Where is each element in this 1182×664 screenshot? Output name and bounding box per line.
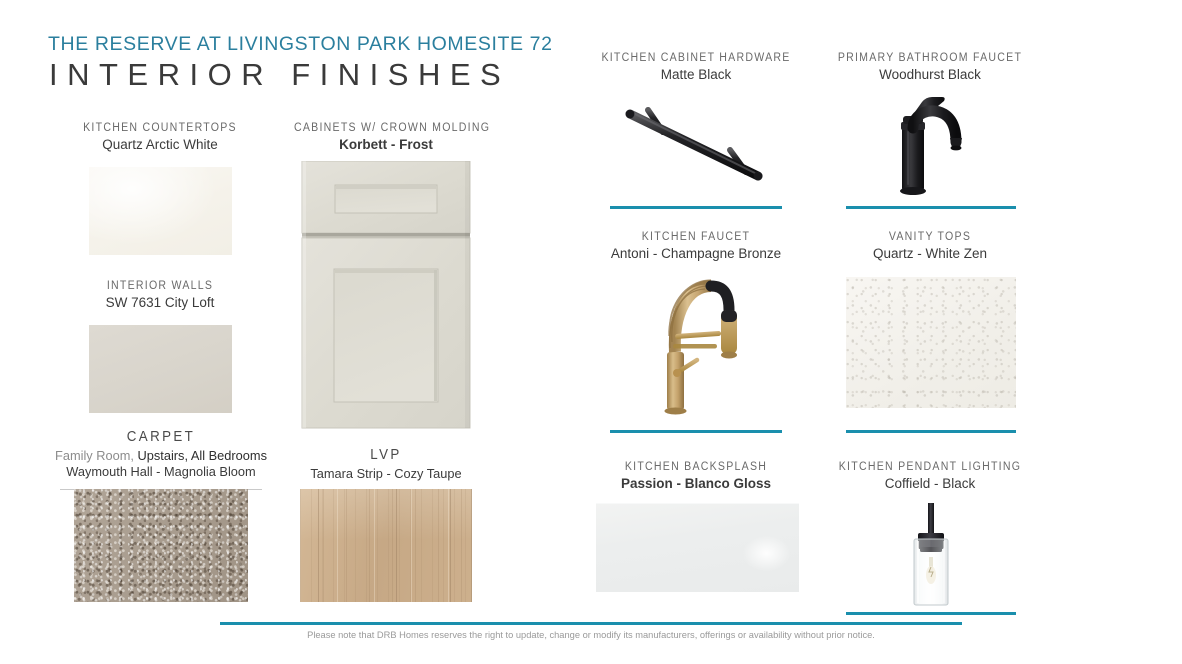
page-title: INTERIOR FINISHES <box>49 57 510 93</box>
kitchen-backsplash-value: Passion - Blanco Gloss <box>588 476 804 491</box>
kitchen-backsplash-swatch <box>596 503 799 592</box>
vanity-tops-label: VANITY TOPS <box>831 231 1030 243</box>
kitchen-countertops-label: KITCHEN COUNTERTOPS <box>68 122 252 134</box>
kitchen-faucet-divider <box>610 430 782 433</box>
finish-item-interior-walls: INTERIOR WALLS SW 7631 City Loft <box>60 280 260 310</box>
bar-pull-photo <box>608 104 784 192</box>
lvp-swatch <box>300 489 472 602</box>
carpet-rooms-primary: Family Room, <box>55 448 134 463</box>
disclaimer-text: Please note that DRB Homes reserves the … <box>0 630 1182 640</box>
pendant-light-photo <box>898 503 964 609</box>
primary-bathroom-faucet-value: Woodhurst Black <box>822 67 1038 82</box>
finish-item-lvp: LVP Tamara Strip - Cozy Taupe <box>286 447 486 481</box>
kitchen-faucet-photo <box>645 274 755 416</box>
interior-walls-swatch <box>89 325 232 413</box>
carpet-swatch <box>74 489 248 602</box>
carpet-label: CARPET <box>55 429 267 445</box>
finish-item-vanity-tops: VANITY TOPS Quartz - White Zen <box>822 231 1038 261</box>
bathroom-faucet-icon <box>868 92 990 196</box>
interior-walls-value: SW 7631 City Loft <box>60 295 260 310</box>
carpet-rooms-secondary: Upstairs, All Bedrooms <box>134 448 267 463</box>
kitchen-faucet-label: KITCHEN FAUCET <box>597 231 796 243</box>
finish-item-kitchen-pendant-lighting: KITCHEN PENDANT LIGHTING Coffield - Blac… <box>822 461 1038 491</box>
finish-item-carpet: CARPET Family Room, Upstairs, All Bedroo… <box>46 429 276 479</box>
cabinets-value: Korbett - Frost <box>286 137 486 152</box>
finish-item-kitchen-countertops: KITCHEN COUNTERTOPS Quartz Arctic White <box>60 122 260 152</box>
finish-item-kitchen-backsplash: KITCHEN BACKSPLASH Passion - Blanco Glos… <box>588 461 804 491</box>
bathroom-faucet-divider <box>846 206 1016 209</box>
carpet-product: Waymouth Hall - Magnolia Bloom <box>46 464 276 479</box>
pendant-light-icon <box>898 503 964 609</box>
bar-pull-icon <box>608 104 784 192</box>
primary-bathroom-faucet-label: PRIMARY BATHROOM FAUCET <box>831 52 1030 64</box>
carpet-rooms: Family Room, Upstairs, All Bedrooms <box>46 448 276 463</box>
kitchen-faucet-icon <box>645 274 755 416</box>
kitchen-faucet-value: Antoni - Champagne Bronze <box>588 246 804 261</box>
vanity-tops-value: Quartz - White Zen <box>822 246 1038 261</box>
kitchen-countertops-value: Quartz Arctic White <box>60 137 260 152</box>
finish-item-cabinets: CABINETS W/ CROWN MOLDING Korbett - Fros… <box>286 122 486 152</box>
finish-item-kitchen-faucet: KITCHEN FAUCET Antoni - Champagne Bronze <box>588 231 804 261</box>
vanity-tops-divider <box>846 430 1016 433</box>
hardware-divider <box>610 206 782 209</box>
kitchen-backsplash-label: KITCHEN BACKSPLASH <box>597 461 796 473</box>
finish-item-kitchen-cabinet-hardware: KITCHEN CABINET HARDWARE Matte Black <box>588 52 804 82</box>
lvp-value: Tamara Strip - Cozy Taupe <box>286 466 486 481</box>
kitchen-pendant-lighting-label: KITCHEN PENDANT LIGHTING <box>831 461 1030 473</box>
interior-finishes-board: THE RESERVE AT LIVINGSTON PARK HOMESITE … <box>0 0 1182 664</box>
vanity-tops-swatch <box>846 277 1016 408</box>
interior-walls-label: INTERIOR WALLS <box>68 280 252 292</box>
pendant-lighting-divider <box>846 612 1016 615</box>
footer-divider <box>220 622 962 625</box>
kitchen-pendant-lighting-value: Coffield - Black <box>822 476 1038 491</box>
kitchen-cabinet-hardware-value: Matte Black <box>588 67 804 82</box>
bathroom-faucet-photo <box>868 92 990 196</box>
lvp-label: LVP <box>294 447 478 463</box>
cabinets-label: CABINETS W/ CROWN MOLDING <box>294 122 478 134</box>
cabinet-door-icon <box>301 161 471 429</box>
kitchen-countertops-swatch <box>89 167 232 255</box>
cabinet-door-photo <box>301 161 471 429</box>
finish-item-primary-bathroom-faucet: PRIMARY BATHROOM FAUCET Woodhurst Black <box>822 52 1038 82</box>
kitchen-cabinet-hardware-label: KITCHEN CABINET HARDWARE <box>597 52 796 64</box>
community-title: THE RESERVE AT LIVINGSTON PARK HOMESITE … <box>48 33 553 56</box>
